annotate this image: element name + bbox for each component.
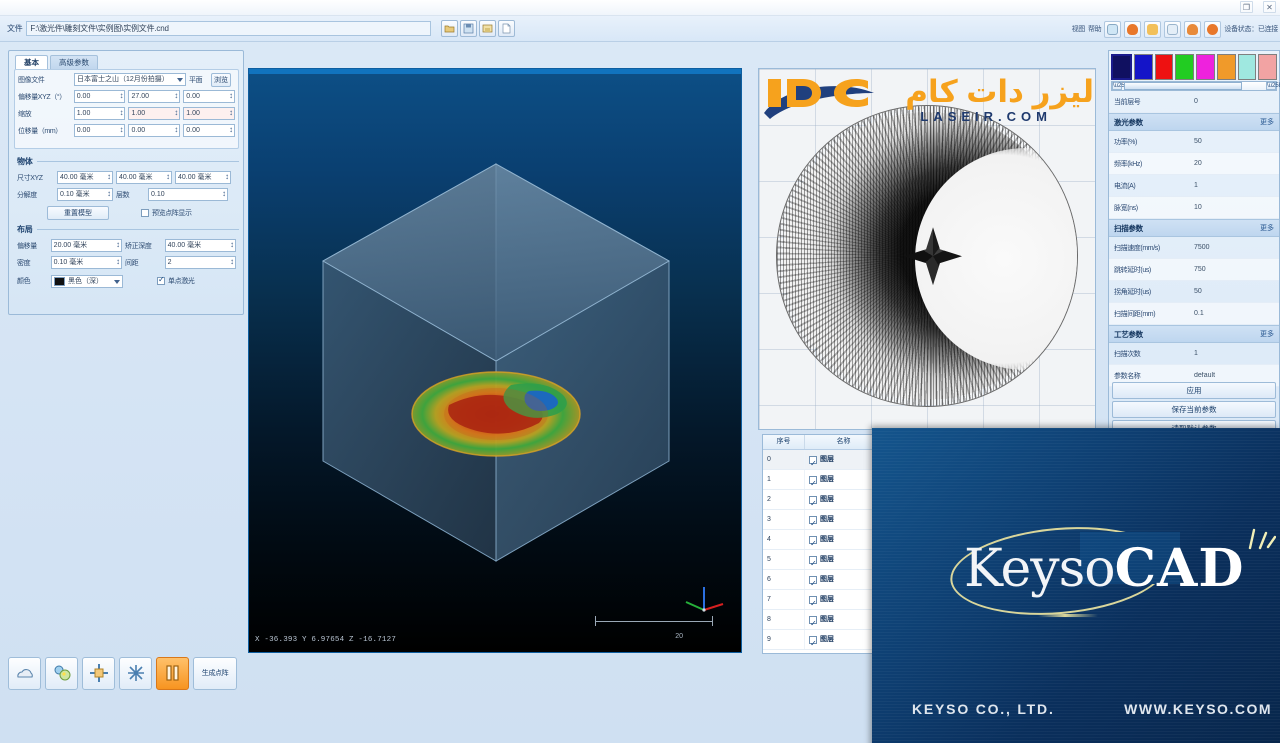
- laser-params-title: 激光参数: [1114, 117, 1143, 128]
- palette-swatch-6[interactable]: [1238, 54, 1257, 80]
- laser-params-more-link[interactable]: 更多: [1260, 117, 1274, 127]
- palette-scroll-thumb[interactable]: [1124, 82, 1242, 90]
- apply-button[interactable]: 应用: [1112, 382, 1276, 399]
- table-header-index: 序号: [763, 435, 805, 449]
- property-value[interactable]: 750: [1191, 266, 1206, 273]
- scale-row: 缩放 1.00 1.00 1.00: [18, 106, 238, 121]
- layout-offset-input[interactable]: 20.00 毫米: [51, 239, 122, 252]
- process-params-more-link[interactable]: 更多: [1260, 329, 1274, 339]
- viewport-scale-label: 20: [675, 633, 683, 640]
- palette-swatch-0[interactable]: [1111, 54, 1132, 80]
- logo-underline: [1038, 614, 1098, 617]
- row-checkbox[interactable]: [809, 576, 817, 584]
- layout-color-value: 黑色（深）: [68, 276, 103, 287]
- layout-density-input[interactable]: 0.10 毫米: [51, 256, 122, 269]
- scan-params-header: 扫描参数更多: [1109, 219, 1279, 237]
- logo-ellipse-mask: [1080, 532, 1180, 584]
- pattern-preview-panel[interactable]: [758, 68, 1096, 430]
- layers-icon[interactable]: [1144, 21, 1161, 38]
- layout-correct-input[interactable]: 40.00 毫米: [165, 239, 236, 252]
- property-row: 频率(kHz)20: [1109, 153, 1279, 175]
- save-params-button[interactable]: 保存当前参数: [1112, 401, 1276, 418]
- cell-index: 7: [763, 590, 805, 609]
- property-row: 脉宽(ns)10: [1109, 197, 1279, 219]
- laser-params-header: 激光参数更多: [1109, 113, 1279, 131]
- palette-scroll-left-icon[interactable]: \u25C0: [1112, 82, 1122, 90]
- process-params-header: 工艺参数更多: [1109, 325, 1279, 343]
- palette-swatch-3[interactable]: [1175, 54, 1194, 80]
- reset-model-button[interactable]: 重置模型: [47, 206, 109, 220]
- row-checkbox[interactable]: [809, 496, 817, 504]
- window-titlebar: ❐ ✕: [0, 0, 1280, 16]
- row-checkbox[interactable]: [809, 536, 817, 544]
- object-size-label: 尺寸XYZ: [17, 173, 57, 183]
- browse-image-button[interactable]: 浏览: [211, 73, 231, 87]
- translate-x-input[interactable]: 0.00: [74, 124, 126, 137]
- property-key: 扫描速度(mm/s): [1109, 243, 1191, 253]
- property-key: 参数名称: [1109, 371, 1191, 381]
- row-name-label: 图层: [820, 490, 834, 509]
- model-viewport[interactable]: 20 X -36.393 Y 6.97654 Z -16.7127: [248, 68, 742, 653]
- palette-swatch-4[interactable]: [1196, 54, 1215, 80]
- top-right-toolbar: 视图 帮助 设备状态：已连接: [1072, 18, 1278, 40]
- layout-settings-group: 布局 偏移量 20.00 毫米 矫正深度 40.00 毫米 密度 0.10 毫米…: [17, 223, 239, 290]
- window-controls: ❐ ✕: [1240, 1, 1276, 13]
- property-value[interactable]: 10: [1191, 204, 1202, 211]
- process-params-title: 工艺参数: [1114, 329, 1143, 340]
- scale-label: 缩放: [18, 109, 74, 119]
- palette-scroll-right-icon[interactable]: \u25B6: [1266, 82, 1276, 90]
- image-source-row: 图像文件 日本富士之山（12月份拍摄） 平面 浏览: [18, 72, 238, 87]
- property-key: 扫描次数: [1109, 349, 1191, 359]
- cloud-view-button[interactable]: [8, 657, 41, 690]
- palette-swatch-7[interactable]: [1258, 54, 1277, 80]
- device-icon[interactable]: [1104, 21, 1121, 38]
- row-checkbox[interactable]: [809, 456, 817, 464]
- row-name-label: 图层: [820, 550, 834, 569]
- scan-params-title: 扫描参数: [1114, 223, 1143, 234]
- row-name-label: 图层: [820, 610, 834, 629]
- property-row: 电流(A)1: [1109, 175, 1279, 197]
- view-mode-toolbar: 生成点阵: [8, 648, 244, 698]
- preview-points-checkbox-box[interactable]: [141, 209, 149, 217]
- preview-points-checkbox[interactable]: 预览点阵显示: [141, 208, 192, 218]
- single-point-checkbox-label: 单点激光: [168, 276, 194, 286]
- object-size-x-input[interactable]: 40.00 毫米: [57, 171, 113, 184]
- property-key: 扫描间距(mm): [1109, 309, 1191, 319]
- color-swatch: [54, 277, 65, 286]
- object-settings-group: 物体 尺寸XYZ 40.00 毫米 40.00 毫米 40.00 毫米 分解度 …: [17, 155, 239, 222]
- palette-scrollbar[interactable]: \u25C0 \u25B6: [1111, 81, 1277, 91]
- cell-index: 8: [763, 610, 805, 629]
- move-tool-button[interactable]: [82, 657, 115, 690]
- layout-offset-row: 偏移量 20.00 毫米 矫正深度 40.00 毫米: [17, 238, 239, 253]
- image-settings-group: 图像文件 日本富士之山（12月份拍摄） 平面 浏览 偏移量XYZ（°） 0.00…: [14, 69, 239, 149]
- object-resolution-input[interactable]: 0.10 毫米: [57, 188, 113, 201]
- property-value[interactable]: 50: [1191, 138, 1202, 145]
- file-action-buttons: [441, 20, 515, 37]
- panel-tabs: 基本 高级参数: [15, 55, 98, 69]
- open-file-button[interactable]: [441, 20, 458, 37]
- import-file-button[interactable]: [479, 20, 496, 37]
- property-row: 拐角延时(us)50: [1109, 281, 1279, 303]
- property-key: 脉宽(ns): [1109, 203, 1191, 213]
- row-checkbox[interactable]: [809, 636, 817, 644]
- property-value[interactable]: 1: [1191, 350, 1198, 357]
- translate-row: 位移量（mm） 0.00 0.00 0.00: [18, 123, 238, 138]
- object-section-header: 物体: [17, 155, 239, 168]
- property-row: 功率(%)50: [1109, 131, 1279, 153]
- file-path-input[interactable]: F:\激光件\雕刻文件\实例图\实例文件.cnd: [26, 21, 431, 36]
- cell-index: 6: [763, 570, 805, 589]
- object-section-title: 物体: [17, 156, 32, 167]
- layout-color-row: 颜色 黑色（深） 单点激光: [17, 272, 239, 290]
- cell-index: 5: [763, 550, 805, 569]
- image-source-label: 图像文件: [18, 75, 74, 85]
- save-file-button[interactable]: [460, 20, 477, 37]
- generate-points-button[interactable]: 生成点阵: [193, 657, 237, 690]
- property-row: 扫描速度(mm/s)7500: [1109, 237, 1279, 259]
- file-toolbar: 文件 F:\激光件\雕刻文件\实例图\实例文件.cnd 视图 帮助: [0, 16, 1280, 42]
- tab-advanced[interactable]: 高级参数: [50, 55, 98, 69]
- sparkle-tool-button[interactable]: [119, 657, 152, 690]
- viewport-coordinates: X -36.393 Y 6.97654 Z -16.7127: [255, 636, 396, 644]
- splash-company-text: KEYSO CO., LTD.: [912, 701, 1055, 717]
- restore-window-button[interactable]: ❐: [1240, 1, 1253, 13]
- scale-y-input[interactable]: 1.00: [128, 107, 180, 120]
- palette-swatch-2[interactable]: [1155, 54, 1174, 80]
- file-label: 文件: [7, 23, 22, 34]
- preview-disc: [776, 105, 1078, 407]
- logo-cad-text: CAD: [1115, 538, 1245, 599]
- row-name-label: 图层: [820, 630, 834, 649]
- new-file-button[interactable]: [498, 20, 515, 37]
- close-window-button[interactable]: ✕: [1263, 1, 1276, 13]
- single-point-checkbox-box[interactable]: [157, 277, 165, 285]
- palette-swatch-5[interactable]: [1217, 54, 1236, 80]
- tab-basic[interactable]: 基本: [15, 55, 48, 69]
- printer-icon[interactable]: [1164, 21, 1181, 38]
- layout-offset-label: 偏移量: [17, 241, 51, 251]
- cell-index: 3: [763, 510, 805, 529]
- layout-interval-label: 间距: [125, 258, 165, 268]
- palette-swatch-1[interactable]: [1134, 54, 1153, 80]
- property-sections: 激光参数更多功率(%)50频率(kHz)20电流(A)1脉宽(ns)10扫描参数…: [1109, 113, 1279, 387]
- slice-view-button[interactable]: [156, 657, 189, 690]
- property-key: 频率(kHz): [1109, 159, 1191, 169]
- cube-model: [249, 69, 742, 653]
- cell-index: 0: [763, 450, 805, 469]
- object-count-label: 层数: [116, 190, 148, 200]
- parameters-panel: 基本 高级参数 图像文件 日本富士之山（12月份拍摄） 平面 浏览 偏移量XYZ…: [8, 50, 244, 315]
- row-checkbox[interactable]: [809, 556, 817, 564]
- property-value[interactable]: 50: [1191, 288, 1202, 295]
- translate-y-input[interactable]: 0.00: [128, 124, 180, 137]
- point-cloud-button[interactable]: [45, 657, 78, 690]
- app-root: ❐ ✕ 文件 F:\激光件\雕刻文件\实例图\实例文件.cnd: [0, 0, 1280, 743]
- row-name-label: 图层: [820, 570, 834, 589]
- layer-properties-panel: \u25C0 \u25B6 当前层号 0 激光参数更多功率(%)50频率(kHz…: [1108, 50, 1280, 440]
- layout-correct-label: 矫正深度: [125, 241, 165, 251]
- property-row: 跳转延时(us)750: [1109, 259, 1279, 281]
- device-status-text: 设备状态：已连接: [1224, 24, 1278, 34]
- image-source-unit: 平面: [189, 75, 211, 85]
- chip-icon[interactable]: [1124, 21, 1141, 38]
- property-row: 扫描间距(mm)0.1: [1109, 303, 1279, 325]
- row-checkbox[interactable]: [809, 516, 817, 524]
- property-value[interactable]: 1: [1191, 182, 1198, 189]
- single-point-checkbox[interactable]: 单点激光: [157, 276, 194, 286]
- offset-row: 偏移量XYZ（°） 0.00 27.00 0.00: [18, 89, 238, 104]
- help-menu[interactable]: 帮助: [1088, 24, 1101, 34]
- layout-color-select[interactable]: 黑色（深）: [51, 275, 123, 288]
- cell-index: 2: [763, 490, 805, 509]
- image-source-select[interactable]: 日本富士之山（12月份拍摄）: [74, 73, 186, 86]
- offset-label: 偏移量XYZ（°）: [18, 92, 74, 102]
- layout-section-title: 布局: [17, 224, 32, 235]
- keysocad-logo: KeysoCAD: [950, 528, 1280, 620]
- preview-points-checkbox-label: 预览点阵显示: [152, 208, 192, 218]
- property-key: 跳转延时(us): [1109, 265, 1191, 275]
- splash-url-text: WWW.KEYSO.COM: [1124, 701, 1272, 717]
- current-layer-row: 当前层号 0: [1109, 91, 1279, 113]
- cell-index: 1: [763, 470, 805, 489]
- property-value[interactable]: default: [1191, 372, 1215, 379]
- cell-index: 9: [763, 630, 805, 649]
- object-section-divider: [37, 161, 239, 162]
- property-value[interactable]: 0.1: [1191, 310, 1204, 317]
- offset-x-input[interactable]: 0.00: [74, 90, 126, 103]
- object-count-input[interactable]: 0.10: [148, 188, 228, 201]
- object-size-row: 尺寸XYZ 40.00 毫米 40.00 毫米 40.00 毫米: [17, 170, 239, 185]
- layout-density-row: 密度 0.10 毫米 间距 2: [17, 255, 239, 270]
- property-value[interactable]: 7500: [1191, 244, 1210, 251]
- row-checkbox[interactable]: [809, 596, 817, 604]
- property-value[interactable]: 20: [1191, 160, 1202, 167]
- view-menu[interactable]: 视图: [1072, 24, 1085, 34]
- row-checkbox[interactable]: [809, 616, 817, 624]
- layout-density-label: 密度: [17, 258, 51, 268]
- layout-interval-input[interactable]: 2: [165, 256, 236, 269]
- translate-label: 位移量（mm）: [18, 126, 74, 136]
- object-size-y-input[interactable]: 40.00 毫米: [116, 171, 172, 184]
- axis-triad-icon: [681, 580, 727, 624]
- row-name-label: 图层: [820, 530, 834, 549]
- row-name-label: 图层: [820, 590, 834, 609]
- application-frame: 文件 F:\激光件\雕刻文件\实例图\实例文件.cnd 视图 帮助: [0, 16, 1280, 743]
- power-icon[interactable]: [1204, 21, 1221, 38]
- offset-z-input[interactable]: 0.00: [183, 90, 235, 103]
- object-actions-row: 重置模型 预览点阵显示: [17, 204, 239, 222]
- layout-section-header: 布局: [17, 223, 239, 236]
- offset-y-input[interactable]: 27.00: [128, 90, 180, 103]
- logo-ellipse: [947, 519, 1172, 624]
- current-layer-label: 当前层号: [1109, 97, 1191, 107]
- property-key: 电流(A): [1109, 181, 1191, 191]
- object-resolution-label: 分解度: [17, 190, 57, 200]
- row-name-label: 图层: [820, 510, 834, 529]
- current-layer-value[interactable]: 0: [1191, 98, 1198, 105]
- laser-head-icon[interactable]: [1184, 21, 1201, 38]
- cell-index: 4: [763, 530, 805, 549]
- color-palette[interactable]: [1111, 54, 1277, 80]
- object-size-z-input[interactable]: 40.00 毫米: [175, 171, 231, 184]
- layout-section-divider: [37, 229, 239, 230]
- logo-wordmark: KeysoCAD: [964, 538, 1244, 599]
- row-checkbox[interactable]: [809, 476, 817, 484]
- property-key: 功率(%): [1109, 137, 1191, 147]
- property-key: 拐角延时(us): [1109, 287, 1191, 297]
- layout-color-label: 颜色: [17, 276, 51, 286]
- scale-x-input[interactable]: 1.00: [74, 107, 126, 120]
- keysocad-splash: KeysoCAD KEYSO CO., LTD. WWW.KEYSO.COM: [872, 428, 1280, 743]
- translate-z-input[interactable]: 0.00: [183, 124, 235, 137]
- object-resolution-row: 分解度 0.10 毫米 层数 0.10: [17, 187, 239, 202]
- sparkle-icon: [1242, 524, 1276, 554]
- row-name-label: 图层: [820, 470, 834, 489]
- property-row: 扫描次数1: [1109, 343, 1279, 365]
- scale-z-input[interactable]: 1.00: [183, 107, 235, 120]
- scan-params-more-link[interactable]: 更多: [1260, 223, 1274, 233]
- logo-keyso-text: Keyso: [964, 539, 1115, 599]
- row-name-label: 图层: [820, 450, 834, 469]
